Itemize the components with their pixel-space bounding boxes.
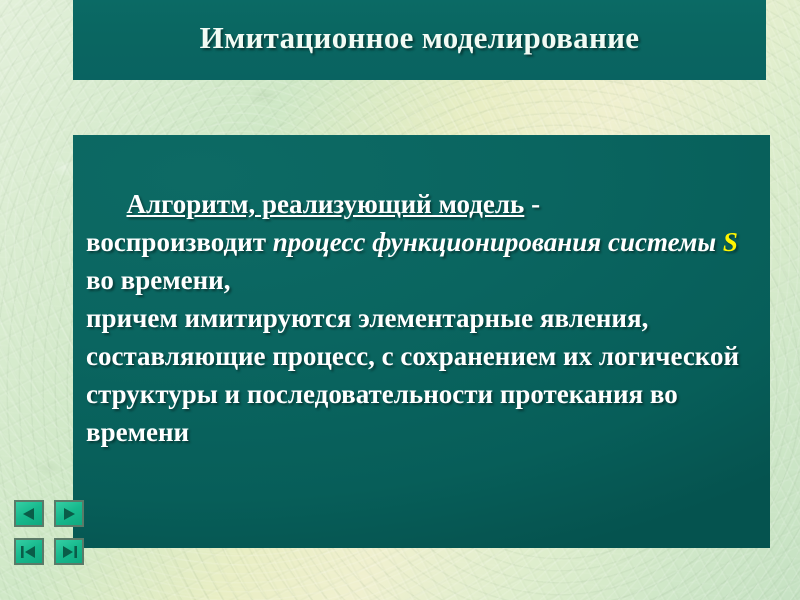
slide-title-bar: Имитационное моделирование (73, 0, 766, 80)
triangle-right-icon (61, 506, 77, 522)
body-segment-definition-term: Алгоритм, реализующий модель (127, 189, 525, 219)
next-slide-button[interactable] (54, 500, 84, 527)
triangle-left-icon (21, 506, 37, 522)
skip-back-icon (20, 544, 38, 560)
first-slide-button[interactable] (14, 538, 44, 565)
skip-forward-icon (60, 544, 78, 560)
previous-slide-button[interactable] (14, 500, 44, 527)
body-segment-system-symbol: S (723, 227, 738, 257)
body-segment-emphasis: процесс функционирования системы (273, 227, 723, 257)
slide-body-text: Алгоритм, реализующий модель - воспроизв… (86, 147, 770, 489)
body-segment-remainder: во времени, причем имитируются элементар… (86, 227, 746, 447)
slide-content-panel: Алгоритм, реализующий модель - воспроизв… (73, 135, 770, 548)
page-title: Имитационное моделирование (73, 20, 766, 56)
slide-navigation-controls (14, 500, 86, 568)
last-slide-button[interactable] (54, 538, 84, 565)
presentation-slide: Имитационное моделирование Алгоритм, реа… (0, 0, 800, 600)
